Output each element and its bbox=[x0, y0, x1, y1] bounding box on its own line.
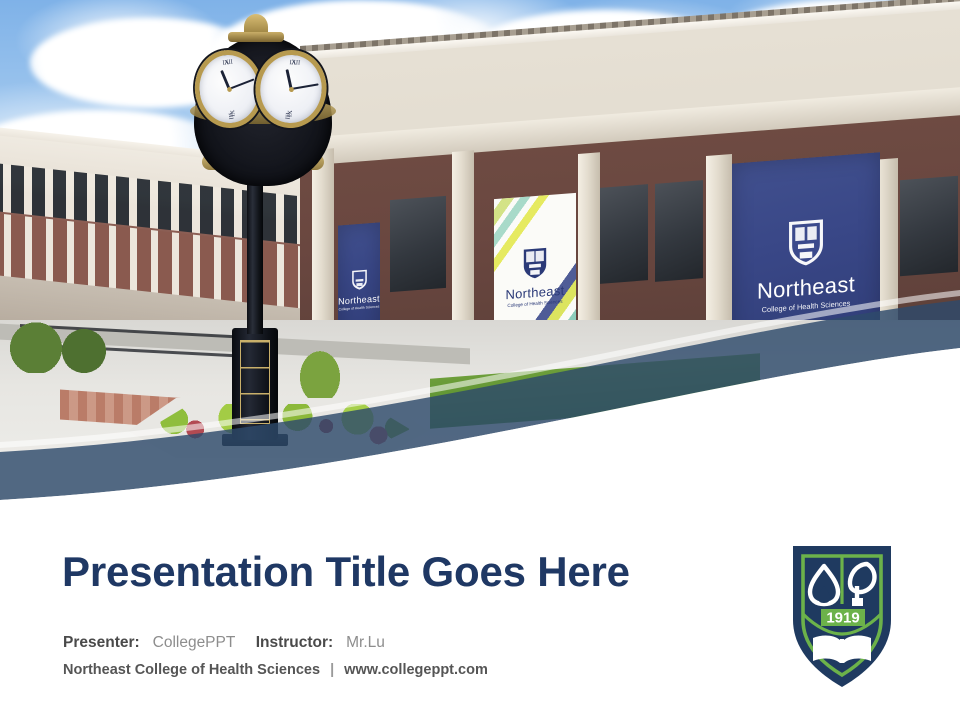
window bbox=[600, 184, 648, 284]
banner-text-block: Northeast College of Health Sciences bbox=[338, 295, 380, 313]
page-title: Presentation Title Goes Here bbox=[62, 548, 630, 596]
clock-center-pin bbox=[226, 86, 231, 91]
campus-street-clock: XII III VI IX XII III VI IX bbox=[188, 6, 338, 446]
shield-icon bbox=[351, 269, 368, 292]
founded-year: 1919 bbox=[826, 610, 859, 627]
presenter-value: CollegePPT bbox=[153, 634, 235, 651]
book-spine bbox=[840, 639, 844, 663]
text-separator: | bbox=[324, 662, 340, 678]
clock-center-pin bbox=[288, 86, 293, 91]
institution-name: Northeast College of Health Sciences bbox=[63, 662, 320, 678]
institution-line: Northeast College of Health Sciences | w… bbox=[63, 662, 488, 678]
presentation-slide: Northeast College of Health Sciences Nor… bbox=[0, 0, 960, 720]
window bbox=[900, 176, 958, 276]
shrubbery bbox=[0, 318, 120, 373]
presenter-label: Presenter: bbox=[63, 634, 140, 651]
window bbox=[390, 196, 446, 292]
college-logo-shield: 1919 bbox=[787, 542, 897, 692]
instructor-value: Mr.Lu bbox=[346, 634, 385, 651]
quill-base bbox=[852, 598, 863, 606]
hero-photo: Northeast College of Health Sciences Nor… bbox=[0, 0, 960, 500]
instructor-label: Instructor: bbox=[256, 634, 334, 651]
shield-icon bbox=[522, 246, 548, 281]
shield-icon bbox=[786, 216, 826, 269]
website-url[interactable]: www.collegeppt.com bbox=[344, 662, 488, 678]
clock-base bbox=[232, 328, 278, 440]
window bbox=[655, 180, 703, 282]
clock-crown bbox=[244, 14, 268, 40]
clock-post bbox=[247, 174, 263, 334]
banner-text-block: Northeast College of Health Sciences bbox=[757, 273, 855, 314]
presenter-line: Presenter: CollegePPT Instructor: Mr.Lu bbox=[63, 634, 385, 652]
